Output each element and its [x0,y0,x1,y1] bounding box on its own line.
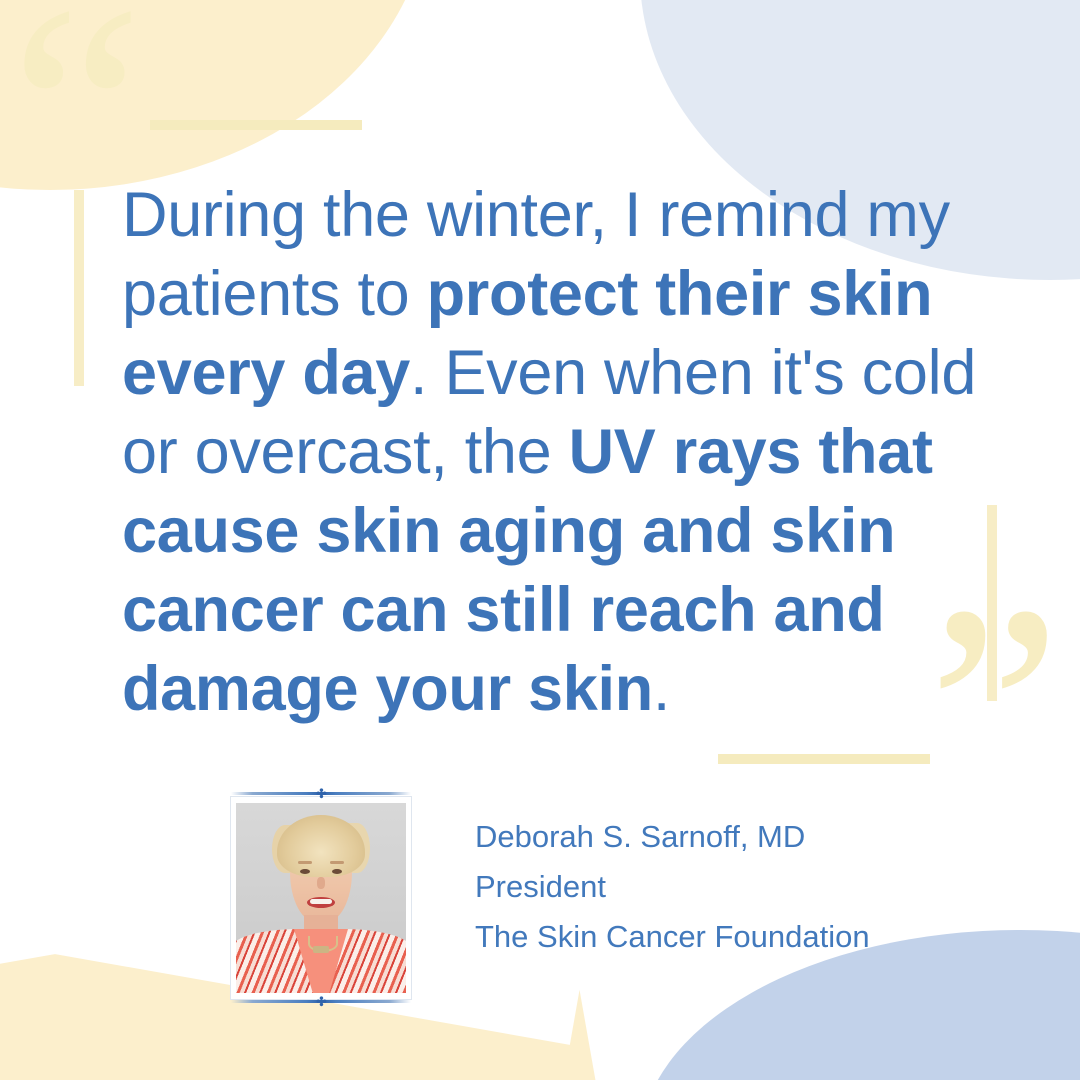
quote-card: “ ” During the winter, I remind my patie… [0,0,1080,1080]
attribution-organization: The Skin Cancer Foundation [475,912,870,962]
rule-top [150,120,362,130]
attribution-title: President [475,862,870,912]
quote-segment: . [653,654,670,724]
selection-handle-bottom-icon[interactable]: ✤ [315,995,328,1008]
selection-handle-top-icon[interactable]: ✤ [315,787,328,800]
attribution: Deborah S. Sarnoff, MD President The Ski… [475,812,870,962]
portrait-photo [236,803,406,993]
portrait-frame [231,797,411,999]
attribution-name: Deborah S. Sarnoff, MD [475,812,870,862]
portrait-image[interactable]: ✤ ✤ [231,797,411,999]
rule-bottom [718,754,930,764]
quote-text: During the winter, I remind my patients … [122,176,1002,729]
